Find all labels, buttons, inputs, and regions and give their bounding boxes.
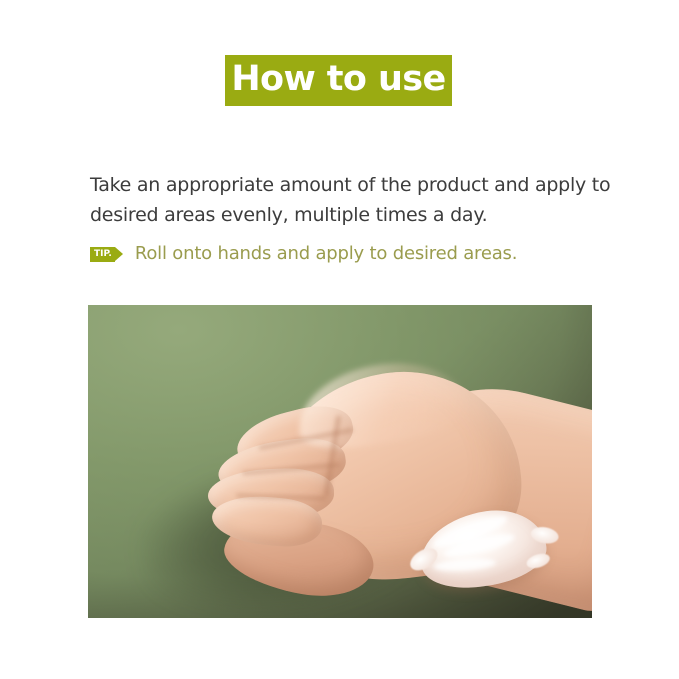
tip-row: TIP. Roll onto hands and apply to desire… (90, 243, 517, 265)
tip-badge: TIP. (90, 247, 115, 262)
tip-badge-label: TIP. (94, 250, 112, 259)
instructions-line-1: Take an appropriate amount of the produc… (90, 170, 600, 200)
instructions-line-2: desired areas evenly, multiple times a d… (90, 200, 600, 230)
tip-text: Roll onto hands and apply to desired are… (135, 243, 517, 265)
instructions-paragraph: Take an appropriate amount of the produc… (90, 170, 600, 230)
section-title-banner: How to use (225, 55, 452, 106)
product-usage-photo (88, 305, 592, 618)
page-title: How to use (231, 62, 445, 97)
hand-illustration (184, 357, 592, 618)
arrow-right-icon (115, 247, 123, 261)
how-to-use-section: How to use Take an appropriate amount of… (0, 0, 679, 679)
